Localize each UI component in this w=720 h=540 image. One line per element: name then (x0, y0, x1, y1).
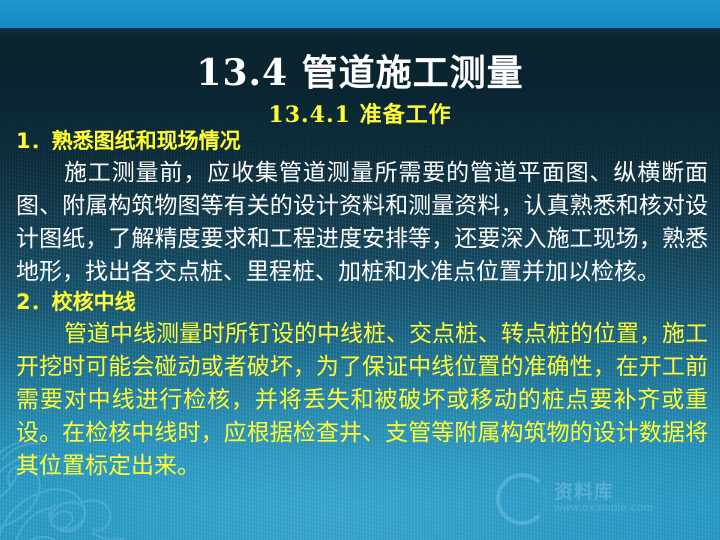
section-1-paragraph: 施工测量前，应收集管道测量所需要的管道平面图、纵横断面图、附属构筑物图等有关的设… (16, 157, 708, 289)
watermark-text: 资料库 www.example.com (554, 483, 653, 514)
section-2-heading: 2．校核中线 (16, 289, 708, 316)
slide-body: 1．熟悉图纸和现场情况 施工测量前，应收集管道测量所需要的管道平面图、纵横断面图… (16, 128, 708, 483)
section-1-heading: 1．熟悉图纸和现场情况 (16, 128, 708, 155)
page-title: 13.4 管道施工测量 (0, 44, 720, 96)
section-2-paragraph: 管道中线测量时所钉设的中线桩、交点桩、转点桩的位置，施工开挖时可能会碰动或者破坏… (16, 318, 708, 483)
watermark-name: 资料库 (554, 483, 653, 503)
watermark-url: www.example.com (554, 503, 653, 515)
page-subtitle: 13.4.1 准备工作 (0, 97, 720, 129)
slide-header-band (0, 0, 720, 28)
slide-canvas: 资料库 www.example.com 建筑工程测量 第 13 章 管道工程测量… (0, 0, 720, 540)
slide-header-underline (0, 28, 720, 33)
